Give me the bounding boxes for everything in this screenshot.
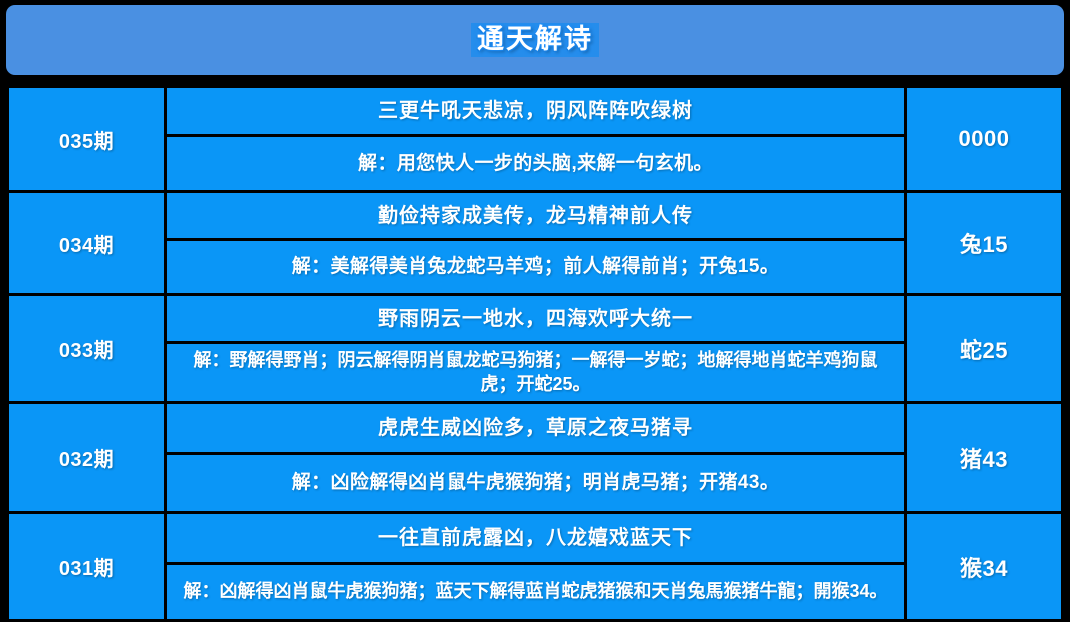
result-label: 兔15 xyxy=(960,227,1008,259)
content-cell: 野雨阴云一地水，四海欢呼大统一 解：野解得野肖；阴云解得阴肖鼠龙蛇马狗猪；一解得… xyxy=(167,296,907,401)
explanation-text: 解：美解得美肖兔龙蛇马羊鸡；前人解得前肖；开兔15。 xyxy=(292,254,780,279)
explanation-cell: 解：用您快人一步的头脑,来解一句玄机。 xyxy=(167,137,904,190)
period-label: 033期 xyxy=(59,334,114,363)
result-label: 蛇25 xyxy=(960,333,1008,365)
poem-cell: 虎虎生威凶险多，草原之夜马猪寻 xyxy=(167,404,904,455)
period-cell: 035期 xyxy=(9,88,167,190)
content-cell: 虎虎生威凶险多，草原之夜马猪寻 解：凶险解得凶肖鼠牛虎猴狗猪；明肖虎马猪；开猪4… xyxy=(167,404,907,511)
period-label: 034期 xyxy=(59,229,114,258)
result-label: 0000 xyxy=(959,126,1010,152)
explanation-text: 解：凶险解得凶肖鼠牛虎猴狗猪；明肖虎马猪；开猪43。 xyxy=(292,470,780,495)
poem-text: 一往直前虎露凶，八龙嬉戏蓝天下 xyxy=(378,526,693,550)
result-cell: 猪43 xyxy=(907,404,1061,511)
result-cell: 兔15 xyxy=(907,193,1061,293)
poem-cell: 勤俭持家成美传，龙马精神前人传 xyxy=(167,193,904,241)
period-label: 032期 xyxy=(59,443,114,472)
poem-cell: 野雨阴云一地水，四海欢呼大统一 xyxy=(167,296,904,344)
poem-text: 勤俭持家成美传，龙马精神前人传 xyxy=(378,204,693,228)
period-label: 035期 xyxy=(59,125,114,154)
period-cell: 034期 xyxy=(9,193,167,293)
result-cell: 蛇25 xyxy=(907,296,1061,401)
table-row[interactable]: 035期 三更牛吼天悲凉，阴风阵阵吹绿树 解：用您快人一步的头脑,来解一句玄机。… xyxy=(6,85,1064,190)
period-cell: 031期 xyxy=(9,514,167,619)
explanation-cell: 解：野解得野肖；阴云解得阴肖鼠龙蛇马狗猪；一解得一岁蛇；地解得地肖蛇羊鸡狗鼠虎；… xyxy=(167,344,904,401)
content-cell: 勤俭持家成美传，龙马精神前人传 解：美解得美肖兔龙蛇马羊鸡；前人解得前肖；开兔1… xyxy=(167,193,907,293)
explanation-text: 解：凶解得凶肖鼠牛虎猴狗猪；蓝天下解得蓝肖蛇虎猪猴和天肖兔馬猴猪牛龍；開猴34。 xyxy=(183,580,887,603)
poem-cell: 一往直前虎露凶，八龙嬉戏蓝天下 xyxy=(167,514,904,565)
table-row[interactable]: 032期 虎虎生威凶险多，草原之夜马猪寻 解：凶险解得凶肖鼠牛虎猴狗猪；明肖虎马… xyxy=(6,401,1064,511)
page-root: 通天解诗 035期 三更牛吼天悲凉，阴风阵阵吹绿树 解：用您快人一步的头脑,来解… xyxy=(0,0,1070,622)
period-label: 031期 xyxy=(59,552,114,581)
period-cell: 032期 xyxy=(9,404,167,511)
content-cell: 三更牛吼天悲凉，阴风阵阵吹绿树 解：用您快人一步的头脑,来解一句玄机。 xyxy=(167,88,907,190)
result-cell: 猴34 xyxy=(907,514,1061,619)
page-header-banner: 通天解诗 xyxy=(6,5,1064,75)
poem-text: 三更牛吼天悲凉，阴风阵阵吹绿树 xyxy=(378,99,693,123)
table-row[interactable]: 033期 野雨阴云一地水，四海欢呼大统一 解：野解得野肖；阴云解得阴肖鼠龙蛇马狗… xyxy=(6,293,1064,401)
poem-text: 虎虎生威凶险多，草原之夜马猪寻 xyxy=(378,416,693,440)
explanation-text: 解：野解得野肖；阴云解得阴肖鼠龙蛇马狗猪；一解得一岁蛇；地解得地肖蛇羊鸡狗鼠虎；… xyxy=(179,349,892,395)
poem-cell: 三更牛吼天悲凉，阴风阵阵吹绿树 xyxy=(167,88,904,137)
poem-text: 野雨阴云一地水，四海欢呼大统一 xyxy=(378,307,693,331)
explanation-text: 解：用您快人一步的头脑,来解一句玄机。 xyxy=(358,151,713,176)
result-label: 猪43 xyxy=(960,442,1008,474)
explanation-cell: 解：美解得美肖兔龙蛇马羊鸡；前人解得前肖；开兔15。 xyxy=(167,241,904,293)
table-row[interactable]: 034期 勤俭持家成美传，龙马精神前人传 解：美解得美肖兔龙蛇马羊鸡；前人解得前… xyxy=(6,190,1064,293)
explanation-cell: 解：凶险解得凶肖鼠牛虎猴狗猪；明肖虎马猪；开猪43。 xyxy=(167,455,904,511)
poem-table: 035期 三更牛吼天悲凉，阴风阵阵吹绿树 解：用您快人一步的头脑,来解一句玄机。… xyxy=(6,85,1064,622)
period-cell: 033期 xyxy=(9,296,167,401)
result-cell: 0000 xyxy=(907,88,1061,190)
explanation-cell: 解：凶解得凶肖鼠牛虎猴狗猪；蓝天下解得蓝肖蛇虎猪猴和天肖兔馬猴猪牛龍；開猴34。 xyxy=(167,565,904,619)
content-cell: 一往直前虎露凶，八龙嬉戏蓝天下 解：凶解得凶肖鼠牛虎猴狗猪；蓝天下解得蓝肖蛇虎猪… xyxy=(167,514,907,619)
page-title: 通天解诗 xyxy=(471,23,599,56)
result-label: 猴34 xyxy=(960,551,1008,583)
table-row[interactable]: 031期 一往直前虎露凶，八龙嬉戏蓝天下 解：凶解得凶肖鼠牛虎猴狗猪；蓝天下解得… xyxy=(6,511,1064,622)
